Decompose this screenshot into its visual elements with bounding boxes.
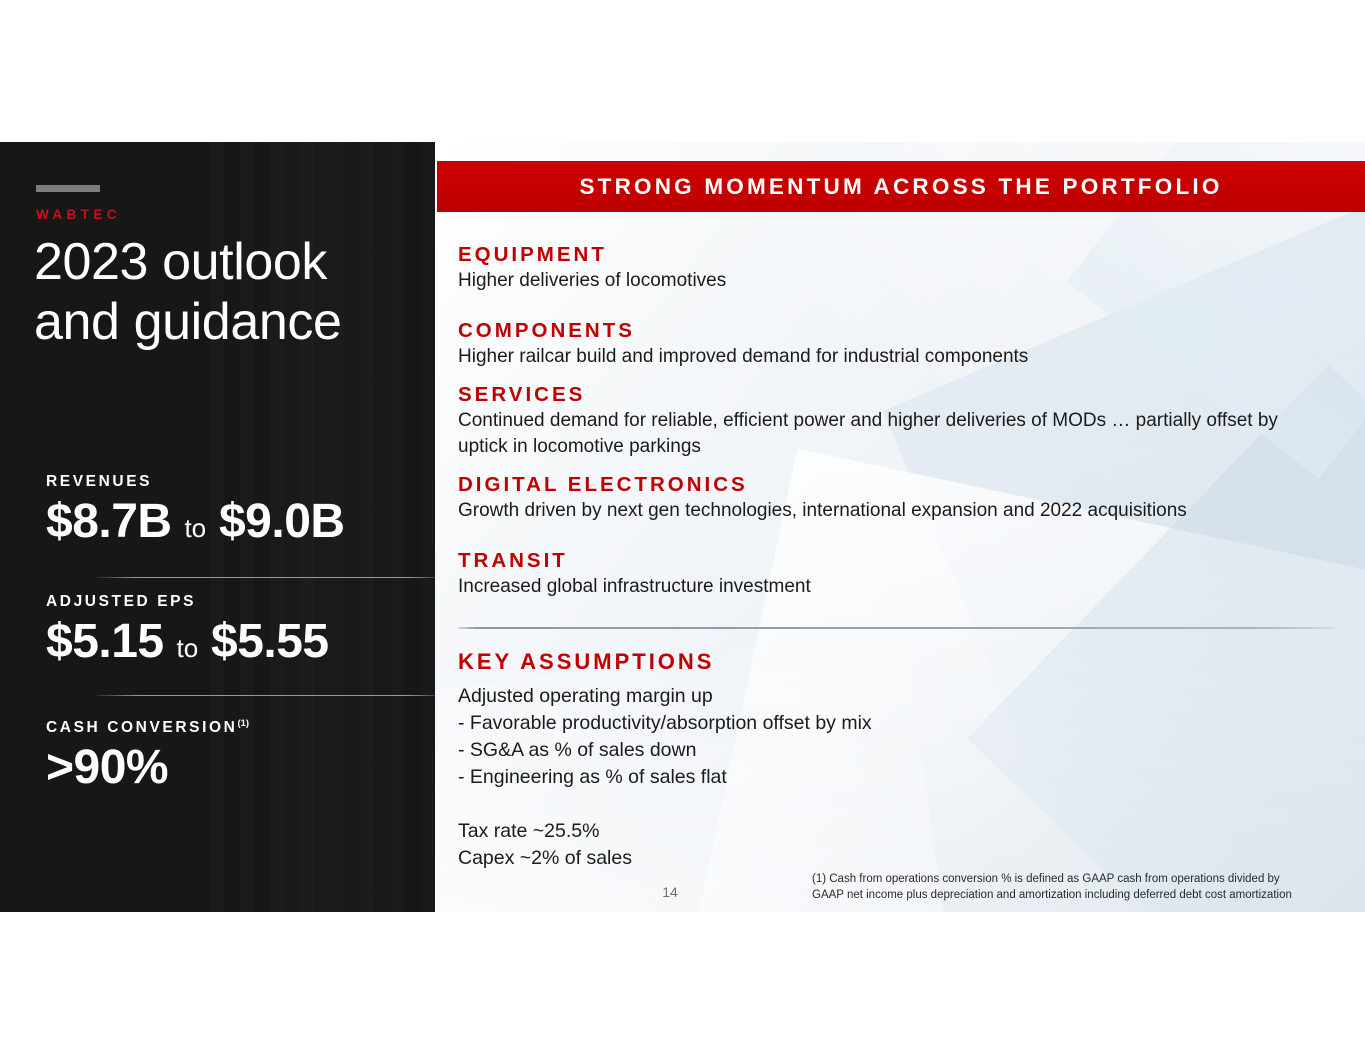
stat-label-superscript: (1) <box>237 718 249 729</box>
section-body: Continued demand for reliable, efficient… <box>458 408 1310 460</box>
stat-divider-1 <box>97 577 435 578</box>
brand-dash-icon <box>36 185 100 192</box>
stat-connector: to <box>184 513 206 543</box>
key-assumption-line: - Engineering as % of sales flat <box>458 764 1338 791</box>
sections-container: EQUIPMENT Higher deliveries of locomotiv… <box>458 242 1338 600</box>
stat-value-low: $5.15 <box>46 615 164 668</box>
left-panel: WABTEC 2023 outlook and guidance REVENUE… <box>0 142 435 912</box>
spacer <box>458 370 1338 382</box>
section-transit: TRANSIT Increased global infrastructure … <box>458 548 1338 600</box>
key-assumptions-heading: KEY ASSUMPTIONS <box>458 647 1338 677</box>
section-heading: COMPONENTS <box>458 318 1338 344</box>
stat-value-adjusted-eps: $5.15 to $5.55 <box>46 614 435 676</box>
section-body: Higher railcar build and improved demand… <box>458 344 1310 370</box>
page-title-line-2: and guidance <box>34 292 414 352</box>
stat-label-text: CASH CONVERSION <box>46 719 237 736</box>
section-digital-electronics: DIGITAL ELECTRONICS Growth driven by nex… <box>458 472 1338 524</box>
stat-value-low: $8.7B <box>46 495 172 548</box>
stat-value-high: $9.0B <box>219 495 345 548</box>
stat-divider-2 <box>97 695 435 696</box>
footnote-line-1: (1) Cash from operations conversion % is… <box>812 872 1357 888</box>
stat-value-cash-conversion: >90% <box>46 740 435 796</box>
key-assumption-line: Adjusted operating margin up <box>458 683 1338 710</box>
page-number: 14 <box>640 884 700 900</box>
footnote-line-2: GAAP net income plus depreciation and am… <box>812 888 1357 904</box>
stat-value-revenues: $8.7B to $9.0B <box>46 494 435 556</box>
key-assumption-line: - SG&A as % of sales down <box>458 737 1338 764</box>
header-title: STRONG MOMENTUM ACROSS THE PORTFOLIO <box>579 174 1222 200</box>
stat-connector: to <box>176 633 198 663</box>
spacer <box>458 524 1338 548</box>
section-heading: SERVICES <box>458 382 1338 408</box>
stat-revenues: REVENUES $8.7B to $9.0B <box>0 472 435 556</box>
stat-label-revenues: REVENUES <box>46 472 435 492</box>
stat-label-adjusted-eps: ADJUSTED EPS <box>46 592 435 612</box>
content-divider <box>458 627 1335 629</box>
section-heading: TRANSIT <box>458 548 1338 574</box>
section-components: COMPONENTS Higher railcar build and impr… <box>458 318 1338 370</box>
page-title-line-1: 2023 outlook <box>34 232 414 292</box>
stats-list: REVENUES $8.7B to $9.0B ADJUSTED EPS $5.… <box>0 472 435 796</box>
stat-adjusted-eps: ADJUSTED EPS $5.15 to $5.55 <box>0 592 435 676</box>
section-body: Growth driven by next gen technologies, … <box>458 498 1310 524</box>
section-body: Higher deliveries of locomotives <box>458 268 1310 294</box>
brand-name: WABTEC <box>36 207 121 222</box>
section-heading: DIGITAL ELECTRONICS <box>458 472 1338 498</box>
section-equipment: EQUIPMENT Higher deliveries of locomotiv… <box>458 242 1338 294</box>
spacer <box>458 791 1338 818</box>
section-body: Increased global infrastructure investme… <box>458 574 1310 600</box>
section-services: SERVICES Continued demand for reliable, … <box>458 382 1338 460</box>
page-title: 2023 outlook and guidance <box>34 232 414 352</box>
header-banner: STRONG MOMENTUM ACROSS THE PORTFOLIO <box>437 161 1365 212</box>
slide-canvas: WABTEC 2023 outlook and guidance REVENUE… <box>0 142 1365 912</box>
stat-cash-conversion: CASH CONVERSION(1) >90% <box>0 714 435 796</box>
footnote: (1) Cash from operations conversion % is… <box>812 872 1357 903</box>
key-assumption-capex: Capex ~2% of sales <box>458 845 1338 872</box>
key-assumption-line: - Favorable productivity/absorption offs… <box>458 710 1338 737</box>
stat-label-cash-conversion: CASH CONVERSION(1) <box>46 714 435 738</box>
key-assumptions-block: KEY ASSUMPTIONS Adjusted operating margi… <box>458 647 1338 872</box>
stat-value-high: $5.55 <box>211 615 329 668</box>
spacer <box>458 460 1338 472</box>
section-heading: EQUIPMENT <box>458 242 1338 268</box>
key-assumption-tax-rate: Tax rate ~25.5% <box>458 818 1338 845</box>
spacer <box>458 294 1338 318</box>
